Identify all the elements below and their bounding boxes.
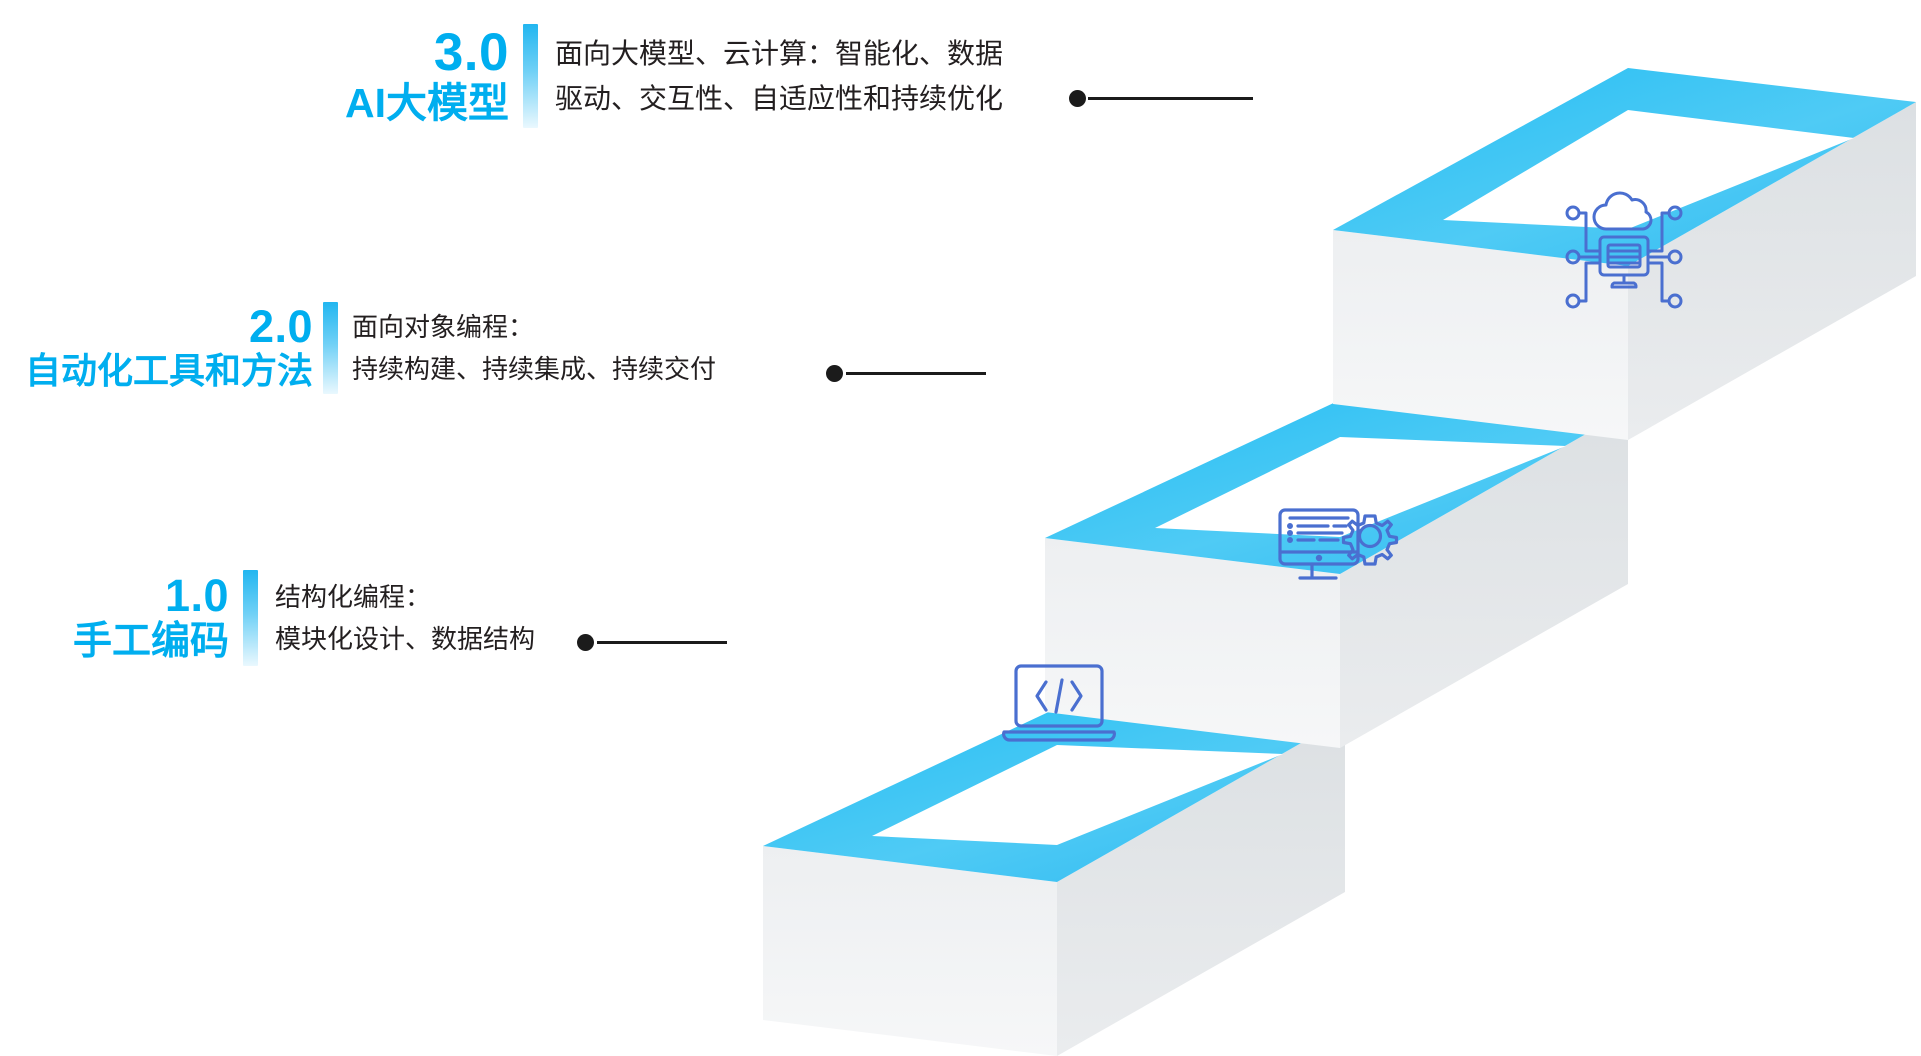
step-tier-3 bbox=[1333, 68, 1916, 440]
tier-1-version: 1.0 bbox=[165, 573, 229, 620]
tier-3-desc-line-2: 驱动、交互性、自适应性和持续优化 bbox=[555, 76, 1003, 121]
tier-1-description: 结构化编程： 模块化设计、数据结构 bbox=[275, 570, 535, 666]
tier-2-version: 2.0 bbox=[249, 304, 313, 351]
tier-3-description: 面向大模型、云计算：智能化、数据 驱动、交互性、自适应性和持续优化 bbox=[555, 24, 1003, 128]
tier-1-heading: 1.0 手工编码 bbox=[14, 570, 229, 666]
tier-2-desc-line-2: 持续构建、持续集成、持续交付 bbox=[352, 348, 716, 390]
tier-3-accent-bar bbox=[523, 24, 538, 128]
tier-1-label-block: 1.0 手工编码 结构化编程： 模块化设计、数据结构 bbox=[14, 570, 535, 666]
tier-2-desc-line-1: 面向对象编程： bbox=[352, 306, 716, 348]
tier-2-description: 面向对象编程： 持续构建、持续集成、持续交付 bbox=[352, 302, 716, 394]
tier-3-name: AI大模型 bbox=[345, 81, 509, 127]
connector-dot-tier-3 bbox=[1069, 90, 1086, 107]
steps-graphic bbox=[0, 0, 1921, 1056]
step-tier-2 bbox=[1045, 400, 1628, 748]
tier-3-desc-line-1: 面向大模型、云计算：智能化、数据 bbox=[555, 31, 1003, 76]
tier-3-version: 3.0 bbox=[434, 25, 509, 80]
connector-dot-tier-2 bbox=[826, 365, 843, 382]
connector-dot-tier-1 bbox=[577, 634, 594, 651]
tier-2-heading: 2.0 自动化工具和方法 bbox=[25, 302, 313, 394]
connector-line-tier-1 bbox=[597, 641, 727, 644]
isometric-staircase-diagram: 3.0 AI大模型 面向大模型、云计算：智能化、数据 驱动、交互性、自适应性和持… bbox=[0, 0, 1921, 1056]
tier-1-name: 手工编码 bbox=[73, 620, 229, 664]
tier-2-label-block: 2.0 自动化工具和方法 面向对象编程： 持续构建、持续集成、持续交付 bbox=[25, 302, 716, 394]
tier-2-name: 自动化工具和方法 bbox=[25, 351, 313, 391]
tier-3-heading: 3.0 AI大模型 bbox=[345, 24, 509, 128]
tier-3-label-block: 3.0 AI大模型 面向大模型、云计算：智能化、数据 驱动、交互性、自适应性和持… bbox=[345, 24, 1003, 128]
tier-1-desc-line-1: 结构化编程： bbox=[275, 576, 535, 618]
tier-2-accent-bar bbox=[323, 302, 338, 394]
connector-line-tier-3 bbox=[1088, 97, 1253, 100]
tier-1-desc-line-2: 模块化设计、数据结构 bbox=[275, 618, 535, 660]
tier-1-accent-bar bbox=[243, 570, 258, 666]
step-tier-1 bbox=[763, 708, 1345, 1056]
connector-line-tier-2 bbox=[846, 372, 986, 375]
